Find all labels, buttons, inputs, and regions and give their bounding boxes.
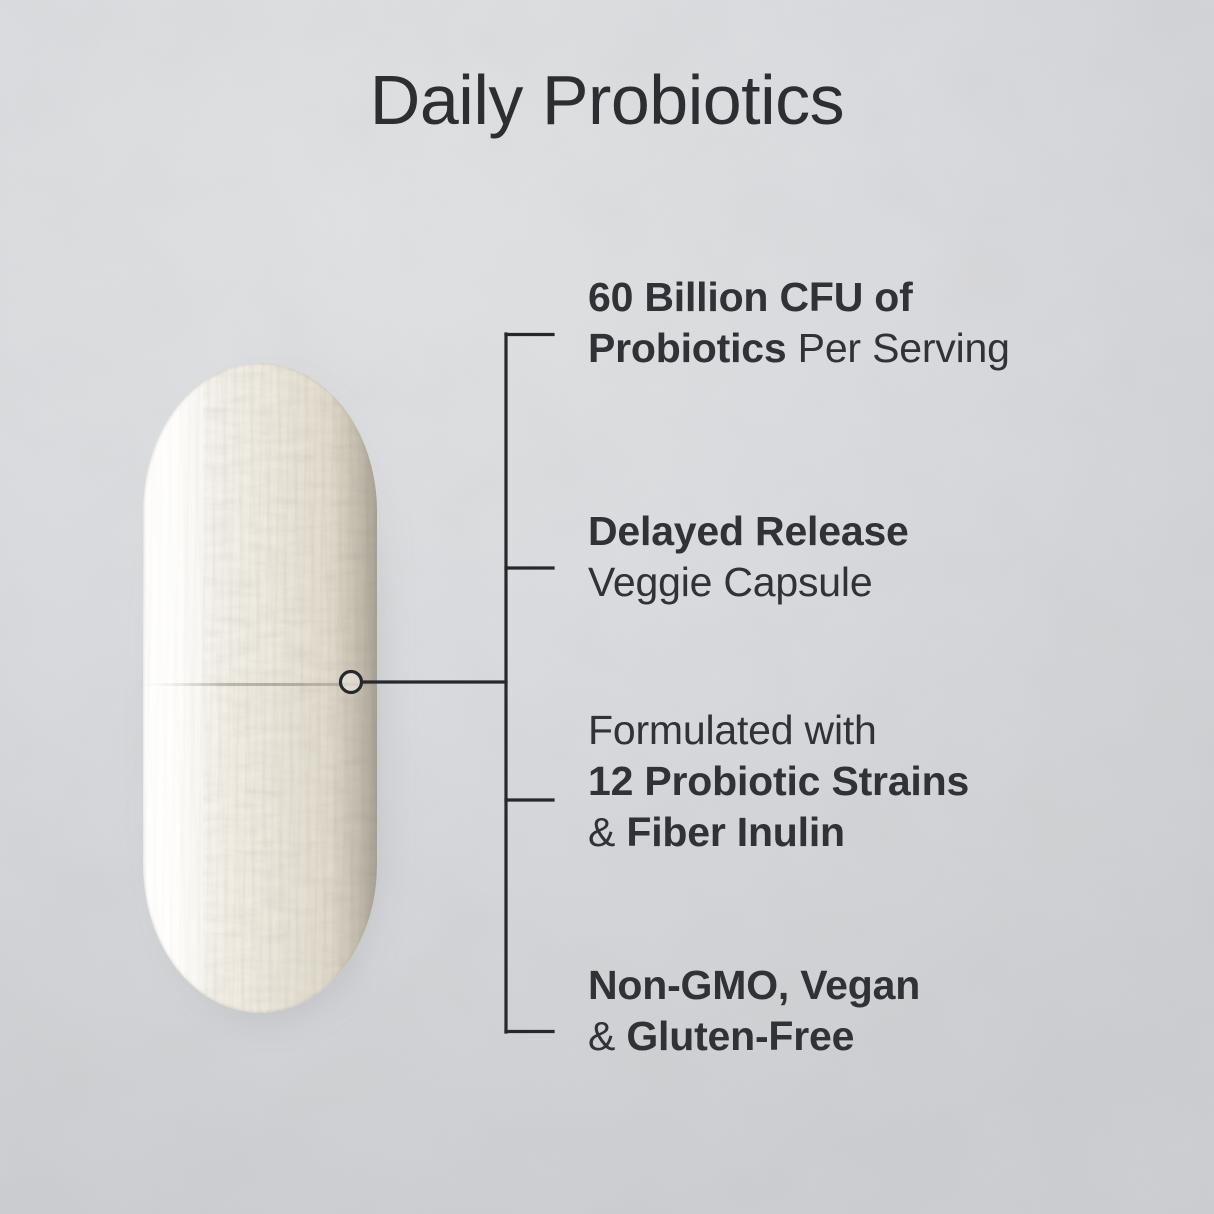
page-title: Daily Probiotics	[0, 64, 1214, 138]
callout-certifications-line-2-regular: &	[588, 1013, 626, 1059]
product-infographic: Daily Probiotics	[0, 0, 1214, 1214]
callout-certifications-line-2: & Gluten-Free	[588, 1011, 920, 1062]
callout-cfu-line-2: Probiotics Per Serving	[588, 323, 1010, 374]
callout-strains-line-2: 12 Probiotic Strains	[588, 756, 969, 807]
callout-strains-line-1-regular: Formulated with	[588, 707, 877, 753]
callout-delayed-release: Delayed Release Veggie Capsule	[588, 506, 909, 608]
callout-cfu-line-1-bold: 60 Billion CFU of	[588, 274, 913, 320]
callout-strains-line-2-bold: 12 Probiotic Strains	[588, 758, 969, 804]
callout-cfu-line-2-regular: Per Serving	[786, 325, 1009, 371]
callout-strains-line-1: Formulated with	[588, 705, 969, 756]
callout-certifications-line-1: Non-GMO, Vegan	[588, 960, 920, 1011]
capsule-rim	[143, 363, 377, 1013]
capsule-body	[143, 363, 377, 1013]
callout-certifications-line-2-bold: Gluten-Free	[626, 1013, 854, 1059]
callout-strains-line-3: & Fiber Inulin	[588, 807, 969, 858]
callout-cfu-line-1: 60 Billion CFU of	[588, 272, 1010, 323]
callout-delayed-release-line-1: Delayed Release	[588, 506, 909, 557]
callout-strains: Formulated with 12 Probiotic Strains & F…	[588, 705, 969, 858]
callout-strains-line-3-bold: Fiber Inulin	[626, 809, 845, 855]
callout-cfu-line-2-bold: Probiotics	[588, 325, 786, 371]
callout-delayed-release-line-2: Veggie Capsule	[588, 557, 909, 608]
probiotic-capsule	[143, 363, 377, 1013]
callout-cfu: 60 Billion CFU of Probiotics Per Serving	[588, 272, 1010, 374]
callout-strains-line-3-regular: &	[588, 809, 626, 855]
callout-delayed-release-line-2-regular: Veggie Capsule	[588, 559, 872, 605]
callout-certifications-line-1-bold: Non-GMO, Vegan	[588, 962, 920, 1008]
callout-certifications: Non-GMO, Vegan & Gluten-Free	[588, 960, 920, 1062]
callout-delayed-release-line-1-bold: Delayed Release	[588, 508, 909, 554]
